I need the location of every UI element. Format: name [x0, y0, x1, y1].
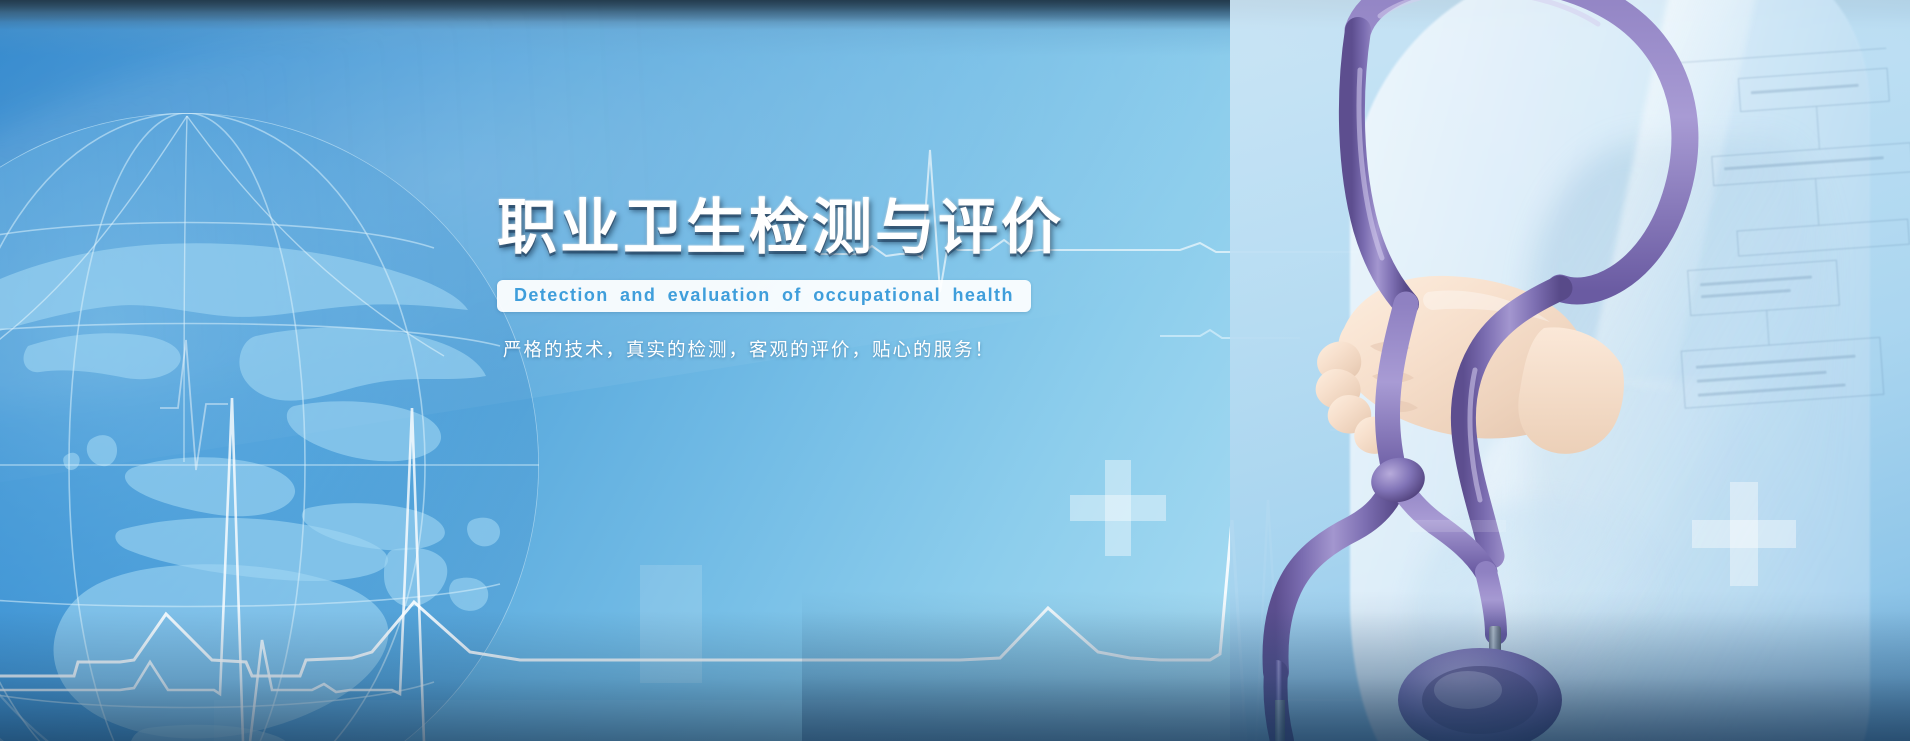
- page-title: 职业卫生检测与评价: [497, 196, 1217, 260]
- tagline-text: 严格的技术，真实的检测，客观的评价，贴心的服务！: [503, 336, 1217, 362]
- banner-copy: 职业卫生检测与评价 Detection and evaluation of oc…: [497, 196, 1217, 362]
- medical-cross-icon: [1070, 495, 1166, 521]
- medical-cross-icon-secondary: [1692, 520, 1796, 548]
- english-subtitle-text: Detection and evaluation of occupational…: [514, 285, 1014, 305]
- accent-bar-right: [1410, 520, 1506, 532]
- foot-shading-right: [802, 591, 1910, 741]
- english-subtitle-pill: Detection and evaluation of occupational…: [497, 280, 1031, 312]
- occupational-health-banner: 职业卫生检测与评价 Detection and evaluation of oc…: [0, 0, 1910, 741]
